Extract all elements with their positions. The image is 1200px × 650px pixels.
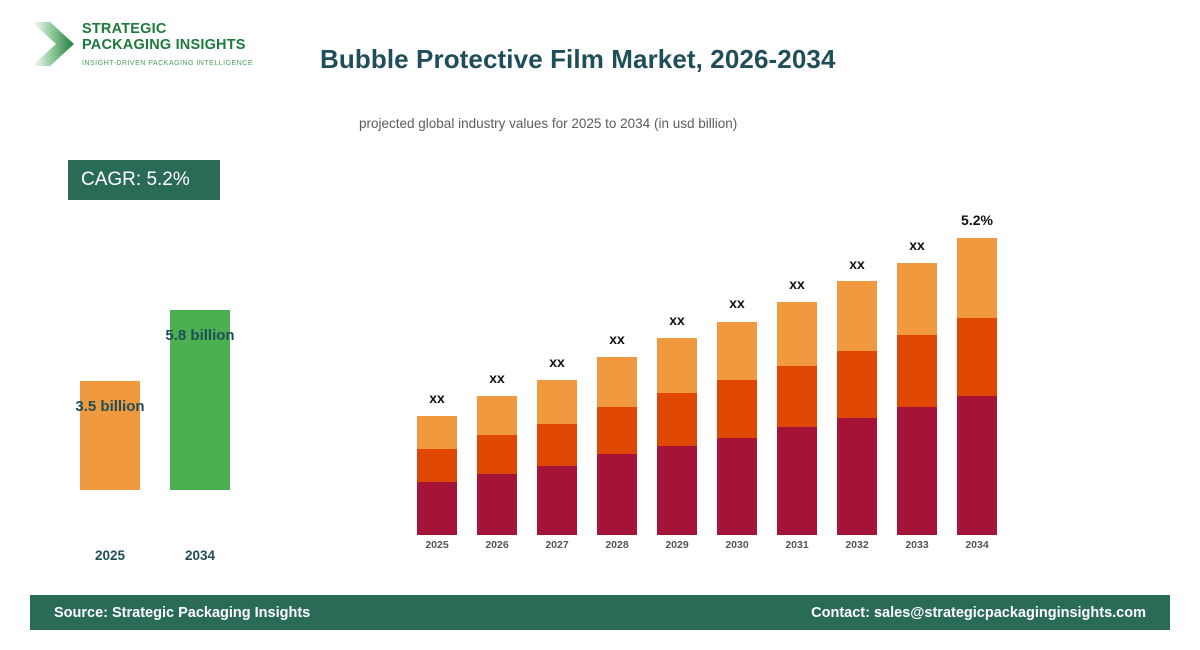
stacked-bar-year-label: 2031 xyxy=(785,539,808,551)
stacked-bar xyxy=(717,321,757,535)
stacked-bar-segment-segment-1 xyxy=(597,454,637,535)
stacked-bar xyxy=(897,263,937,535)
stacked-bar-segment-segment-1 xyxy=(537,466,577,535)
stacked-bar-segment-segment-2 xyxy=(957,318,997,396)
stacked-bar-year-label: 2030 xyxy=(725,539,748,551)
stacked-bar xyxy=(537,380,577,535)
footer-contact: Contact: sales@strategicpackaginginsight… xyxy=(811,605,1146,621)
stacked-bar xyxy=(777,302,817,535)
stacked-bar-segment-segment-3 xyxy=(837,281,877,351)
stacked-bar-segment-segment-2 xyxy=(477,435,517,474)
stacked-bar-segment-segment-3 xyxy=(717,322,757,380)
stacked-bar-segment-segment-2 xyxy=(597,407,637,454)
footer-bar: Source: Strategic Packaging Insights Con… xyxy=(30,595,1170,630)
stacked-bar xyxy=(477,396,517,535)
stacked-bar-top-label: 5.2% xyxy=(961,212,993,228)
stacked-bar-year-label: 2025 xyxy=(425,539,448,551)
stacked-bar-segment-segment-1 xyxy=(657,446,697,535)
stacked-bar-segment-segment-3 xyxy=(597,357,637,407)
stacked-bar xyxy=(657,338,697,535)
stacked-bar-top-label: xx xyxy=(489,370,505,386)
stacked-bar-year-label: 2033 xyxy=(905,539,928,551)
stacked-bar-segment-segment-2 xyxy=(417,449,457,482)
stacked-bar-top-label: xx xyxy=(549,354,565,370)
stacked-bar-year-label: 2027 xyxy=(545,539,568,551)
stacked-bar-top-label: xx xyxy=(429,390,445,406)
stacked-bar xyxy=(597,357,637,535)
stacked-bar-segment-segment-3 xyxy=(537,380,577,424)
stacked-bar-segment-segment-1 xyxy=(957,396,997,535)
stacked-bar-top-label: xx xyxy=(789,276,805,292)
stacked-bar-segment-segment-2 xyxy=(657,393,697,446)
stacked-bar-segment-segment-1 xyxy=(837,418,877,535)
footer-source: Source: Strategic Packaging Insights xyxy=(54,605,310,621)
stacked-bar-segment-segment-2 xyxy=(537,424,577,466)
stacked-bar-year-label: 2028 xyxy=(605,539,628,551)
stacked-bar xyxy=(837,282,877,535)
stacked-bar-segment-segment-3 xyxy=(777,302,817,366)
stacked-bar-top-label: xx xyxy=(609,331,625,347)
stacked-bar-segment-segment-3 xyxy=(417,416,457,449)
stacked-bar-year-label: 2026 xyxy=(485,539,508,551)
stacked-bar-year-label: 2029 xyxy=(665,539,688,551)
stacked-bar-year-label: 2032 xyxy=(845,539,868,551)
stacked-bar-segment-segment-1 xyxy=(717,438,757,535)
stacked-bar-segment-segment-2 xyxy=(897,335,937,407)
stacked-bar-segment-segment-3 xyxy=(657,338,697,393)
stacked-bar-top-label: xx xyxy=(669,312,685,328)
stacked-bar-segment-segment-1 xyxy=(477,474,517,535)
stacked-bar-segment-segment-2 xyxy=(777,366,817,427)
stacked-bar-segment-segment-2 xyxy=(837,351,877,418)
projection-stacked-bar-chart: xx2025xx2026xx2027xx2028xx2029xx2030xx20… xyxy=(0,0,1200,600)
stacked-bar xyxy=(417,416,457,535)
stacked-bar-segment-segment-1 xyxy=(417,482,457,535)
stacked-bar-segment-segment-3 xyxy=(957,238,997,318)
stacked-bar-top-label: xx xyxy=(909,237,925,253)
stacked-bar-top-label: xx xyxy=(849,256,865,272)
stacked-bar-segment-segment-3 xyxy=(897,263,937,335)
stacked-bar-segment-segment-2 xyxy=(717,380,757,438)
stacked-bar xyxy=(957,238,997,535)
stacked-bar-year-label: 2034 xyxy=(965,539,988,551)
stacked-bar-top-label: xx xyxy=(729,295,745,311)
stacked-bar-segment-segment-1 xyxy=(777,427,817,535)
stacked-bar-segment-segment-1 xyxy=(897,407,937,535)
stacked-bar-segment-segment-3 xyxy=(477,396,517,435)
chart-canvas: STRATEGIC PACKAGING INSIGHTS INSIGHT-DRI… xyxy=(0,0,1200,650)
